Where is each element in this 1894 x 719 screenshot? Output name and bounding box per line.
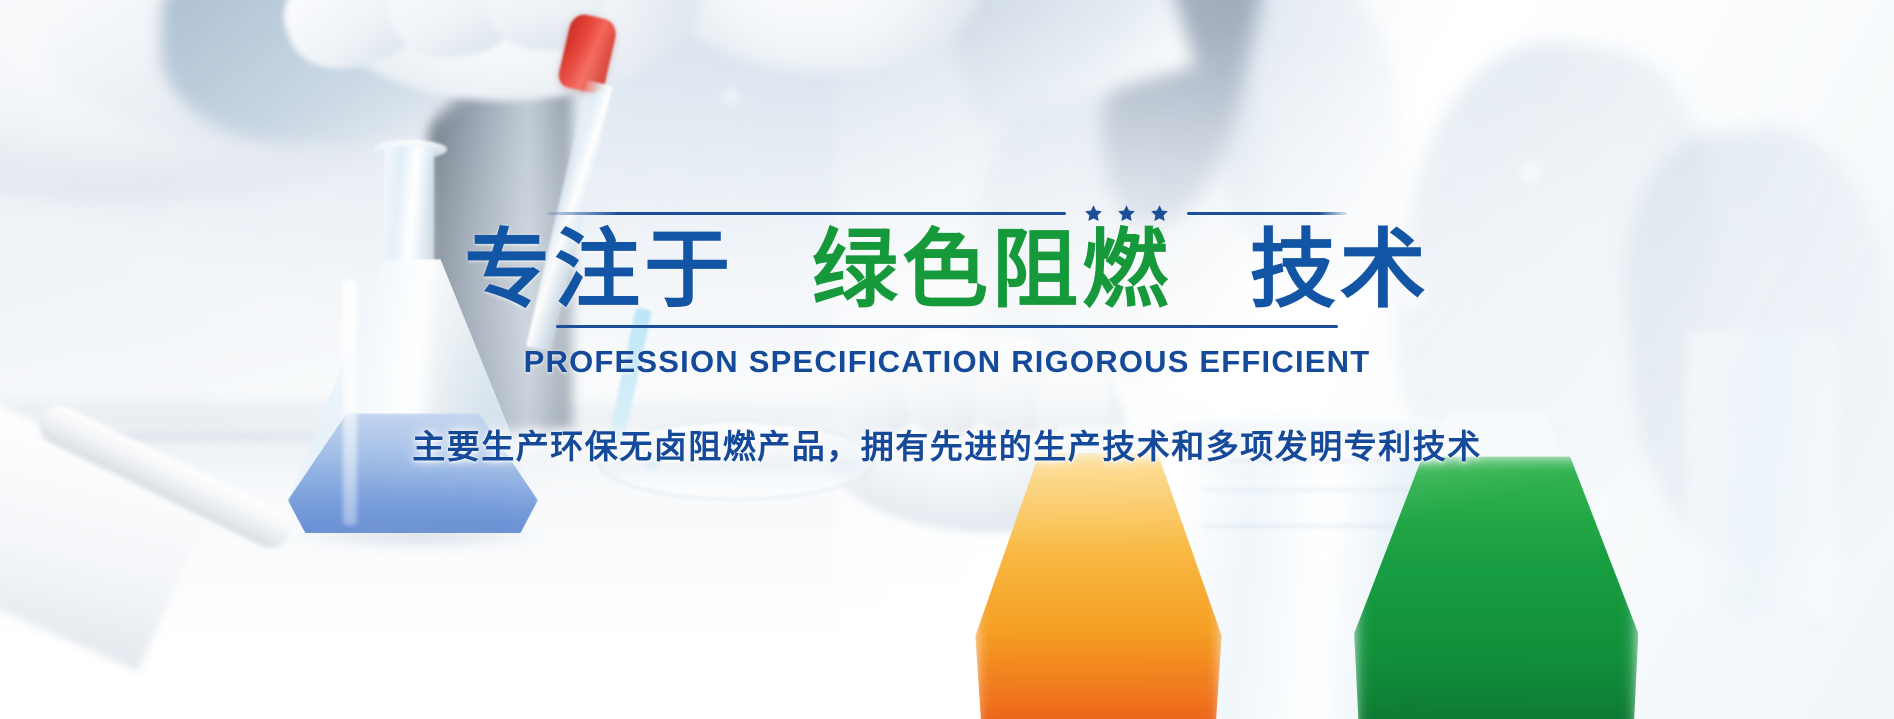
- subtitle-english: PROFESSION SPECIFICATION RIGOROUS EFFICI…: [524, 344, 1371, 380]
- subtitle-chinese: 主要生产环保无卤阻燃产品，拥有先进的生产技术和多项发明专利技术: [412, 420, 1482, 468]
- star-group: [1066, 204, 1187, 223]
- star-icon: [1117, 204, 1136, 223]
- divider-rule-right: [1187, 212, 1347, 215]
- ornament-divider-row: [547, 204, 1347, 222]
- hero-banner: 专注于 绿色阻燃 技术 PROFESSION SPECIFICATION RIG…: [0, 0, 1894, 719]
- headline-part-1: 专注于: [464, 222, 734, 318]
- page-title: 专注于 绿色阻燃 技术: [464, 224, 1430, 317]
- headline-part-2: 绿色阻燃: [812, 222, 1172, 318]
- headline-part-3: 技术: [1250, 222, 1430, 318]
- star-icon: [1084, 204, 1103, 223]
- banner-content: 专注于 绿色阻燃 技术 PROFESSION SPECIFICATION RIG…: [0, 0, 1894, 719]
- star-icon: [1150, 204, 1169, 223]
- headline-underline-rule: [556, 325, 1338, 328]
- divider-rule-left: [547, 212, 1066, 215]
